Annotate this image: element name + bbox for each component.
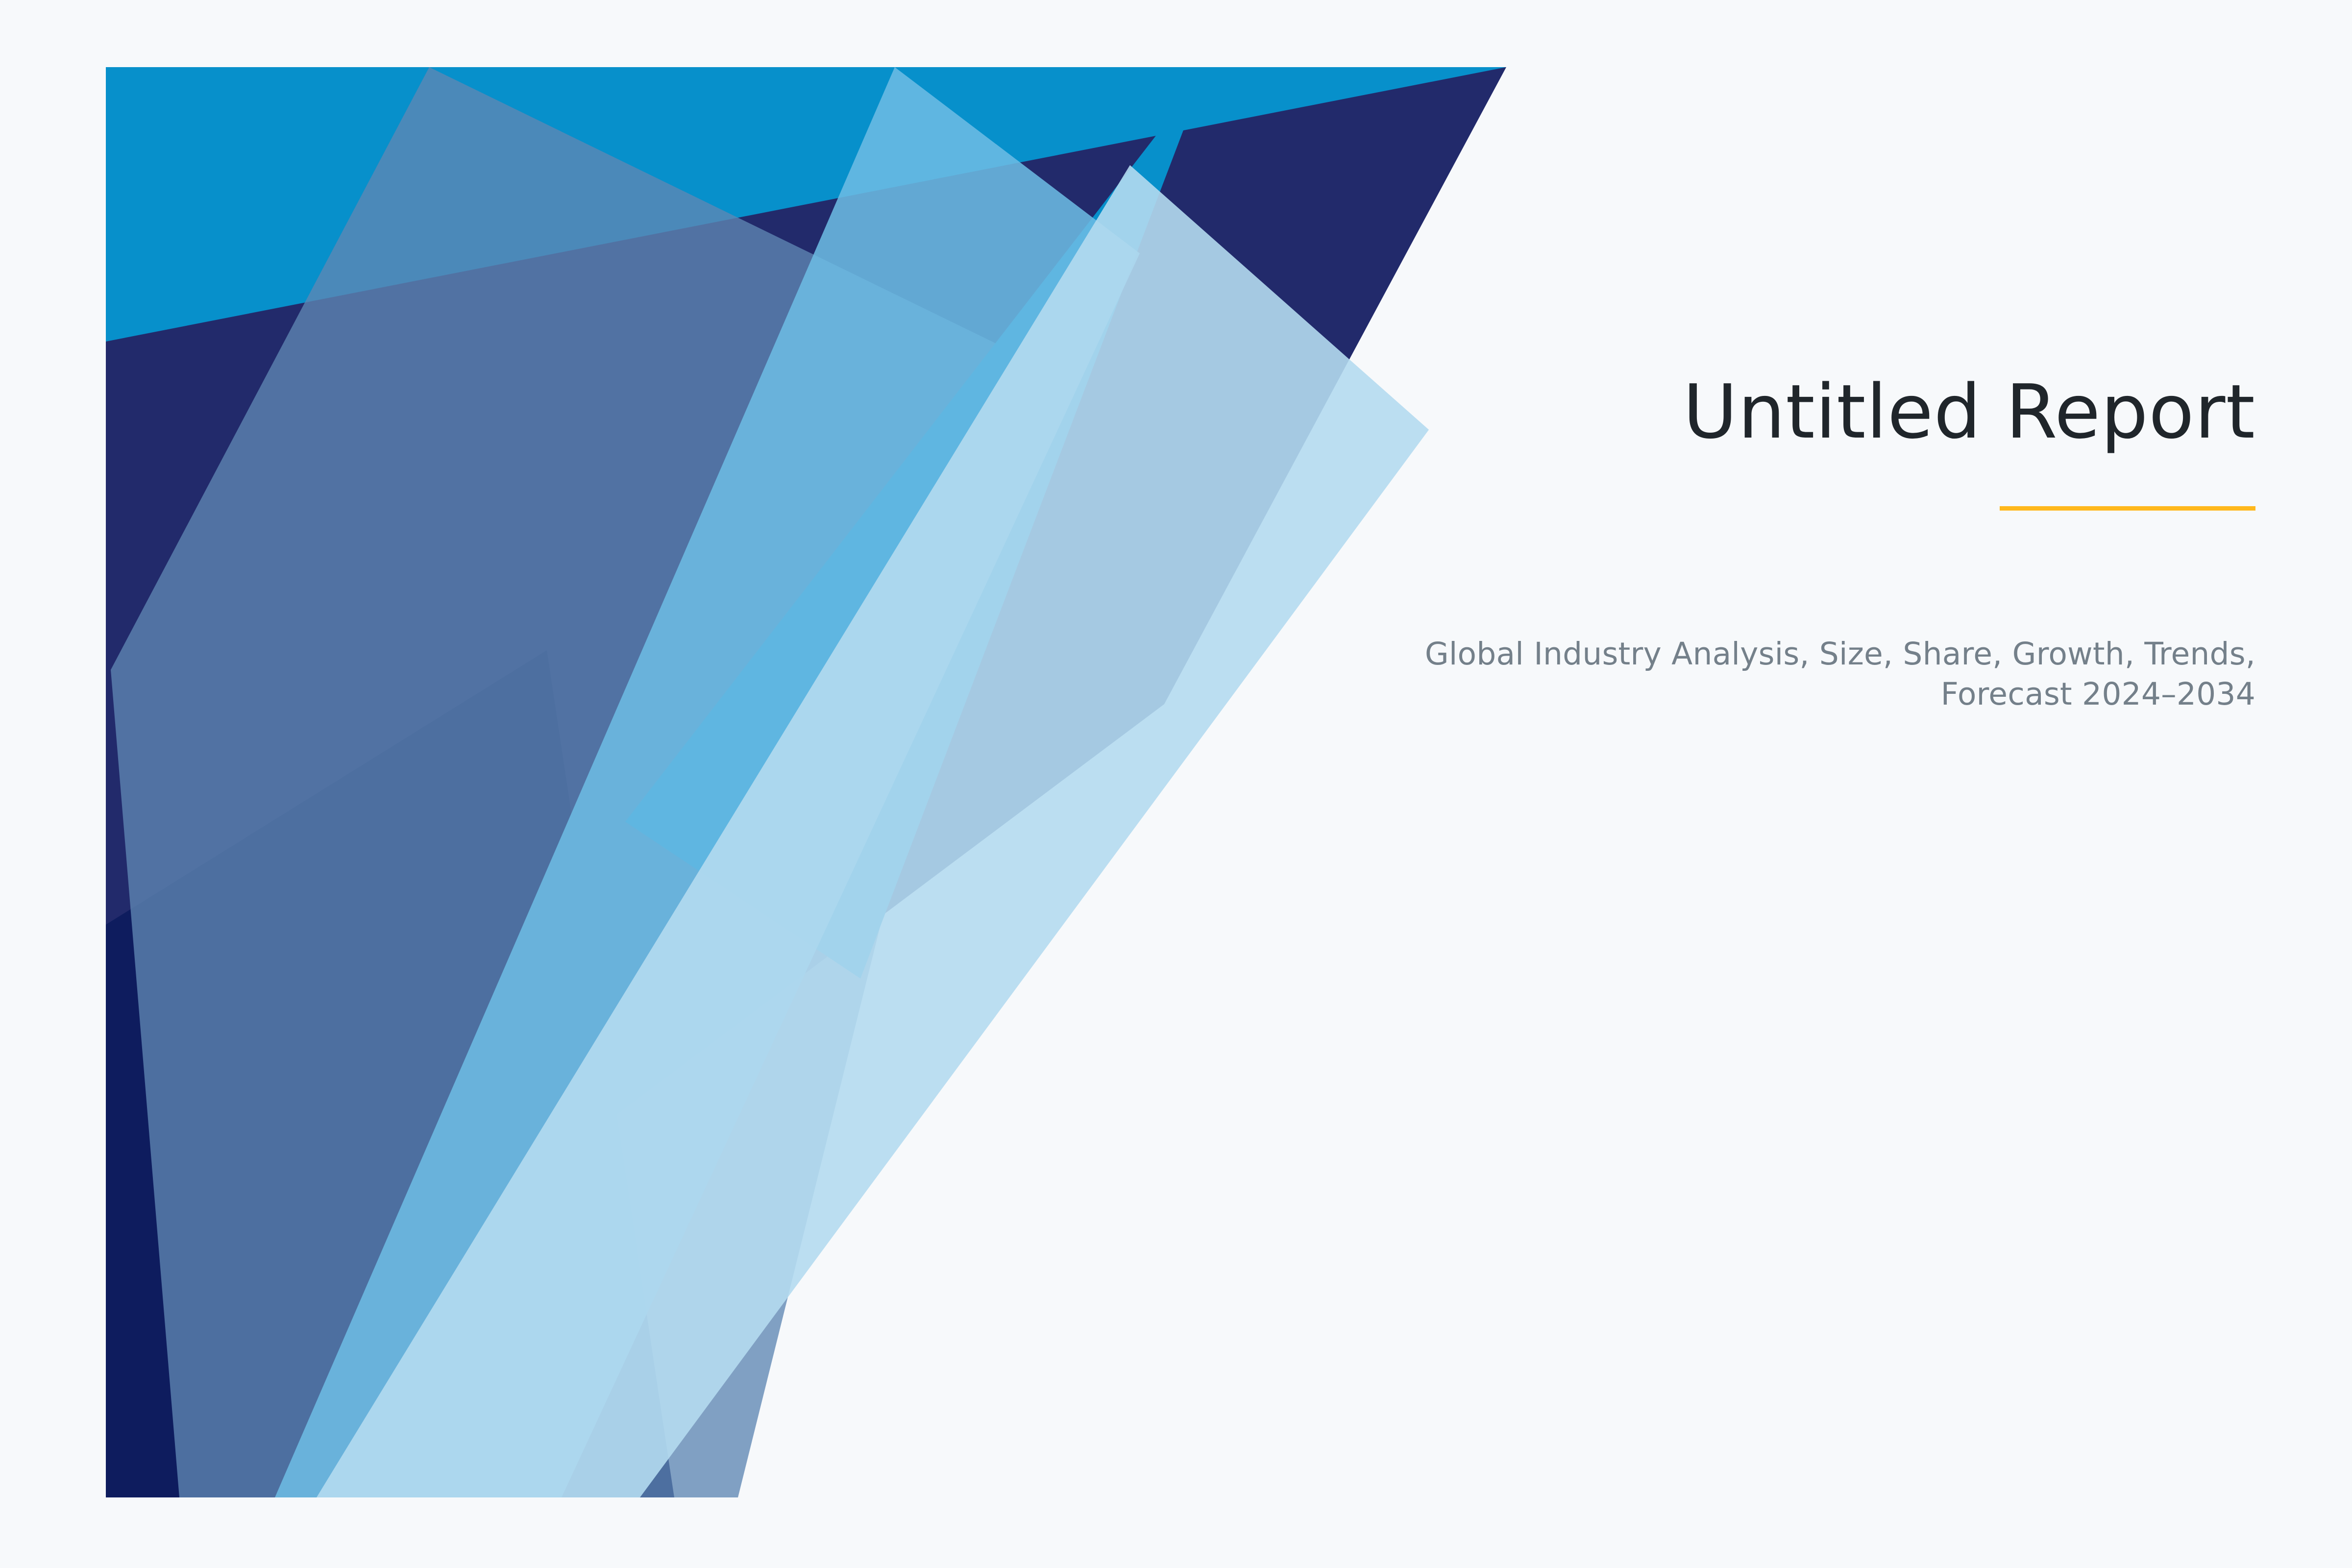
cover-artwork-svg [106, 67, 1506, 1497]
cover-title-block: Untitled Report Global Industry Analysis… [1421, 372, 2255, 714]
cover-artwork [106, 67, 1506, 1497]
report-subtitle: Global Industry Analysis, Size, Share, G… [1421, 634, 2255, 714]
page-title: Untitled Report [1421, 372, 2255, 451]
report-cover-page: Untitled Report Global Industry Analysis… [0, 0, 2352, 1568]
artwork-shape-group [106, 67, 1506, 1497]
title-accent-rule [2000, 506, 2255, 511]
